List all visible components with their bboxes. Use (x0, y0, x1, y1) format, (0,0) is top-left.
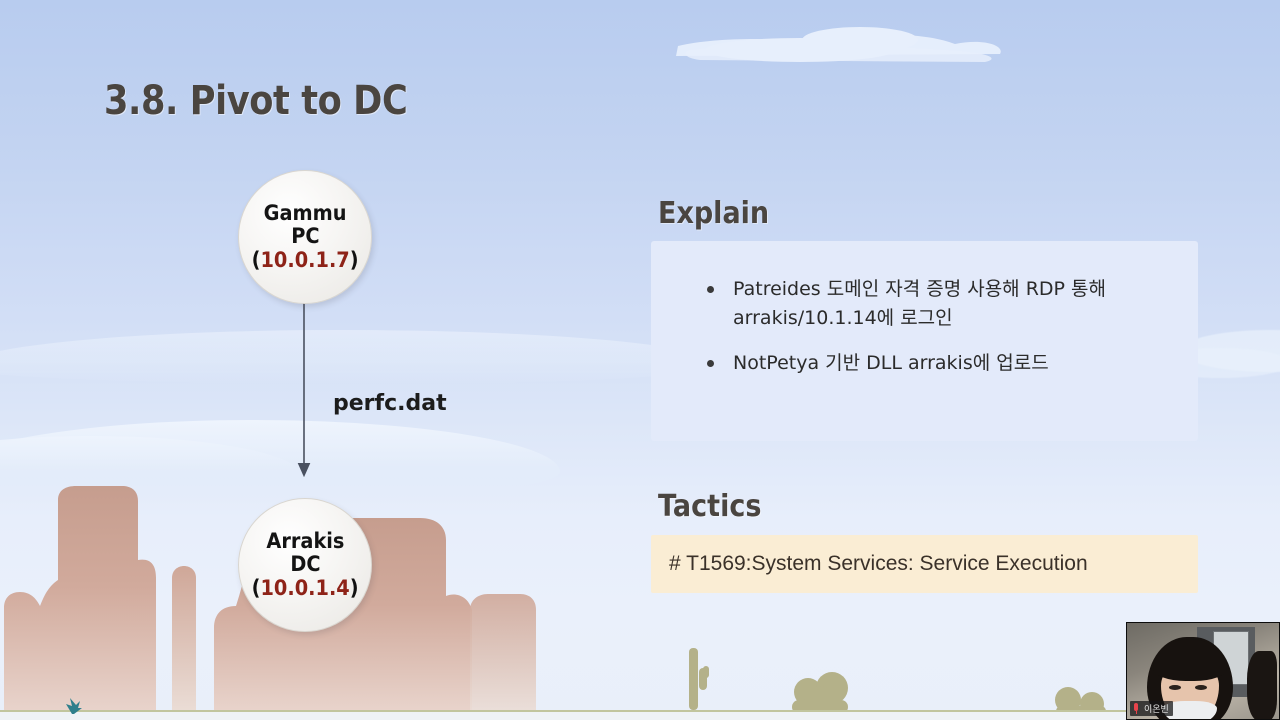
microphone-icon (1132, 703, 1141, 714)
node-label-line2: DC (290, 553, 320, 576)
paren-close: ) (350, 576, 359, 600)
tactics-panel: # T1569:System Services: Service Executi… (651, 535, 1198, 593)
paren-open: ( (252, 576, 261, 600)
paren-close: ) (350, 248, 359, 272)
paren-open: ( (252, 248, 261, 272)
explain-bullet-list: Patreides 도메인 자격 증명 사용해 RDP 통해 arrakis/1… (675, 275, 1174, 378)
node-label-line1: Arrakis (266, 530, 344, 553)
ip-value: 10.0.1.7 (260, 248, 349, 272)
node-label-line2: PC (291, 225, 319, 248)
explain-panel: Patreides 도메인 자격 증명 사용해 RDP 통해 arrakis/1… (651, 241, 1198, 441)
webcam-person-hair-side (1247, 651, 1277, 720)
list-item: Patreides 도메인 자격 증명 사용해 RDP 통해 arrakis/1… (675, 275, 1174, 333)
slide-canvas: 3.8. Pivot to DC Gammu PC (10.0.1.7) Arr… (0, 0, 1280, 720)
node-ip-address: (10.0.1.7) (252, 249, 359, 272)
webcam-overlay[interactable]: 이온빈 (1126, 622, 1280, 720)
ip-value: 10.0.1.4 (260, 576, 349, 600)
tactics-heading: Tactics (658, 489, 761, 524)
edge-label-payload: perfc.dat (333, 391, 447, 416)
webcam-person-eye-left (1169, 685, 1181, 690)
diagram-node-gammu-pc[interactable]: Gammu PC (10.0.1.7) (238, 170, 372, 304)
webcam-nametag: 이온빈 (1130, 701, 1173, 716)
webcam-participant-name: 이온빈 (1144, 702, 1169, 715)
explain-heading: Explain (658, 196, 769, 231)
list-item: NotPetya 기반 DLL arrakis에 업로드 (675, 349, 1174, 378)
webcam-person-eye-right (1195, 685, 1207, 690)
node-ip-address: (10.0.1.4) (252, 577, 359, 600)
diagram-node-arrakis-dc[interactable]: Arrakis DC (10.0.1.4) (238, 498, 372, 632)
tactics-technique-text: # T1569:System Services: Service Executi… (669, 552, 1088, 576)
node-label-line1: Gammu (264, 202, 347, 225)
